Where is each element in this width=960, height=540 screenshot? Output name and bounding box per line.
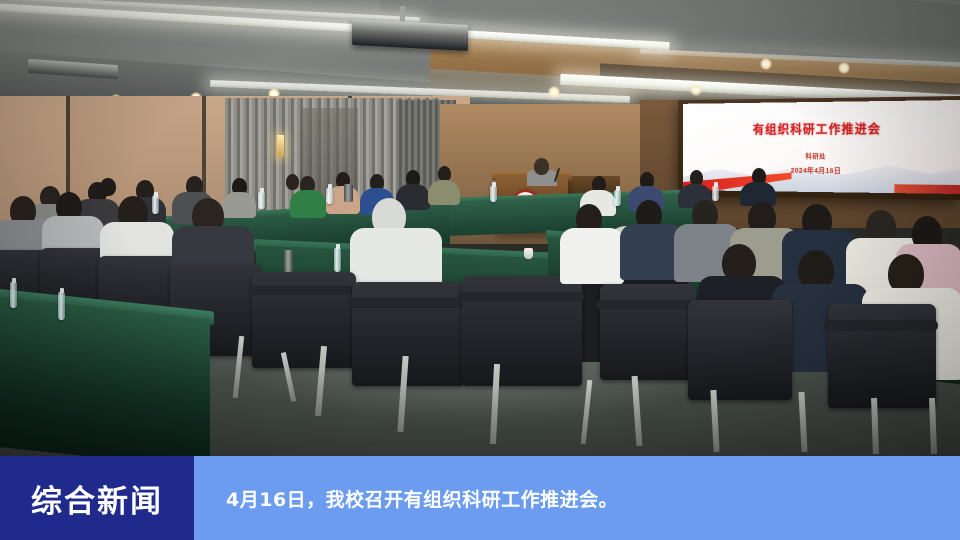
ceiling-spotlight bbox=[760, 58, 772, 70]
caption-body: 4月16日，我校召开有组织科研工作推进会。 bbox=[194, 456, 960, 540]
caption-bar: 综合新闻 4月16日，我校召开有组织科研工作推进会。 bbox=[0, 456, 960, 540]
chair-arm bbox=[596, 300, 700, 310]
screen-red-accent bbox=[894, 184, 960, 194]
ceiling-spotlight bbox=[548, 86, 560, 98]
conference-photo: 有组织科研工作推进会 科研处 2024年4月16日 bbox=[0, 0, 960, 456]
wall-sconce bbox=[277, 135, 284, 157]
chair-arm bbox=[248, 286, 358, 295]
chair-arm bbox=[824, 320, 938, 331]
led-screen[interactable]: 有组织科研工作推进会 科研处 2024年4月16日 bbox=[683, 100, 960, 194]
conference-table-foreground bbox=[0, 293, 210, 456]
water-bottle bbox=[152, 196, 159, 214]
attendee-body bbox=[560, 228, 624, 284]
attendee-body bbox=[290, 190, 326, 218]
attendee-body bbox=[222, 192, 256, 218]
screen-subtitle: 科研处 bbox=[683, 152, 960, 162]
caption-text: 4月16日，我校召开有组织科研工作推进会。 bbox=[226, 485, 618, 512]
water-bottle bbox=[10, 282, 17, 308]
thermos bbox=[344, 184, 353, 202]
water-bottle bbox=[258, 192, 265, 209]
screen-title: 有组织科研工作推进会 bbox=[683, 118, 960, 138]
news-category-badge[interactable]: 综合新闻 bbox=[0, 456, 194, 540]
ceiling-spotlight bbox=[838, 62, 850, 74]
chair-arm bbox=[458, 292, 584, 302]
chair-arm bbox=[348, 298, 466, 308]
news-photo-card: 有组织科研工作推进会 科研处 2024年4月16日 bbox=[0, 0, 960, 540]
news-category-label: 综合新闻 bbox=[31, 476, 163, 521]
speaker-head bbox=[534, 158, 549, 175]
attendee-body bbox=[428, 180, 460, 205]
chair bbox=[600, 284, 696, 380]
water-bottle bbox=[614, 190, 621, 206]
attendee-head bbox=[286, 174, 299, 190]
water-bottle bbox=[712, 186, 719, 201]
ceiling-spotlight bbox=[690, 84, 702, 96]
water-bottle bbox=[326, 188, 333, 204]
attendee-head bbox=[100, 178, 116, 196]
water-bottle bbox=[58, 292, 65, 320]
chair bbox=[688, 300, 792, 400]
water-bottle bbox=[490, 186, 497, 202]
paper-cup bbox=[524, 248, 533, 259]
water-bottle bbox=[334, 248, 341, 272]
